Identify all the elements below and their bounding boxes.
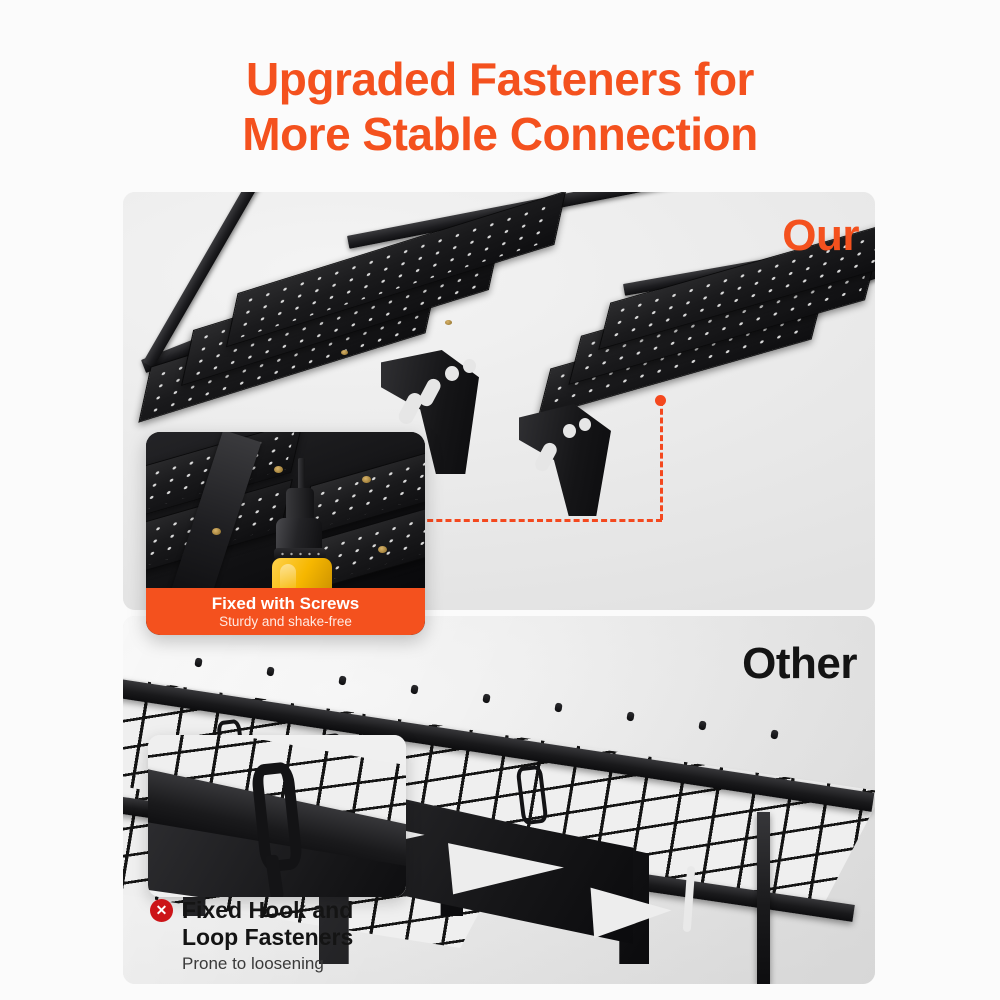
shelf-post: [757, 812, 770, 984]
screw-head: [212, 528, 221, 535]
caption-title-line-1: Fixed Hook and: [182, 897, 353, 924]
screw-head: [378, 546, 387, 553]
bracket-hole: [563, 424, 576, 438]
drill-screw-closeup-photo: [146, 432, 425, 592]
label-other: Other: [742, 642, 857, 686]
page-title: Upgraded Fasteners for More Stable Conne…: [0, 52, 1000, 162]
bracket-hole: [463, 359, 476, 373]
bracket-hole: [445, 366, 459, 381]
drill-bit: [298, 458, 305, 492]
inset-callout-other: [148, 735, 406, 897]
x-mark-icon: ✕: [150, 899, 173, 922]
headline-line-1: Upgraded Fasteners for: [246, 53, 754, 105]
screw-head: [341, 350, 348, 355]
bracket-hole: [579, 418, 591, 431]
inset-callout-our: Fixed with Screws Sturdy and shake-free: [146, 432, 425, 635]
callout-marker-dot: [655, 395, 666, 406]
hook-loop-strap-closeup-photo: [148, 735, 406, 897]
caption-title-line-2: Loop Fasteners: [182, 924, 353, 951]
screw-head: [445, 320, 452, 325]
marketing-infographic: Upgraded Fasteners for More Stable Conne…: [0, 0, 1000, 1000]
drill-chuck: [286, 488, 314, 522]
screw-head: [274, 466, 283, 473]
caption-subtitle: Prone to loosening: [182, 953, 480, 975]
caption-hook-and-loop: ✕ Fixed Hook and Loop Fasteners Prone to…: [150, 897, 480, 975]
screw-head: [362, 476, 371, 483]
callout-line-horizontal: [418, 519, 662, 522]
label-our: Our: [782, 214, 859, 258]
caption-title: Fixed with Screws: [212, 594, 359, 614]
headline-line-2: More Stable Connection: [0, 107, 1000, 162]
caption-subtitle: Sturdy and shake-free: [219, 614, 352, 630]
caption-fixed-with-screws: Fixed with Screws Sturdy and shake-free: [146, 588, 425, 635]
callout-line-vertical: [660, 400, 663, 520]
